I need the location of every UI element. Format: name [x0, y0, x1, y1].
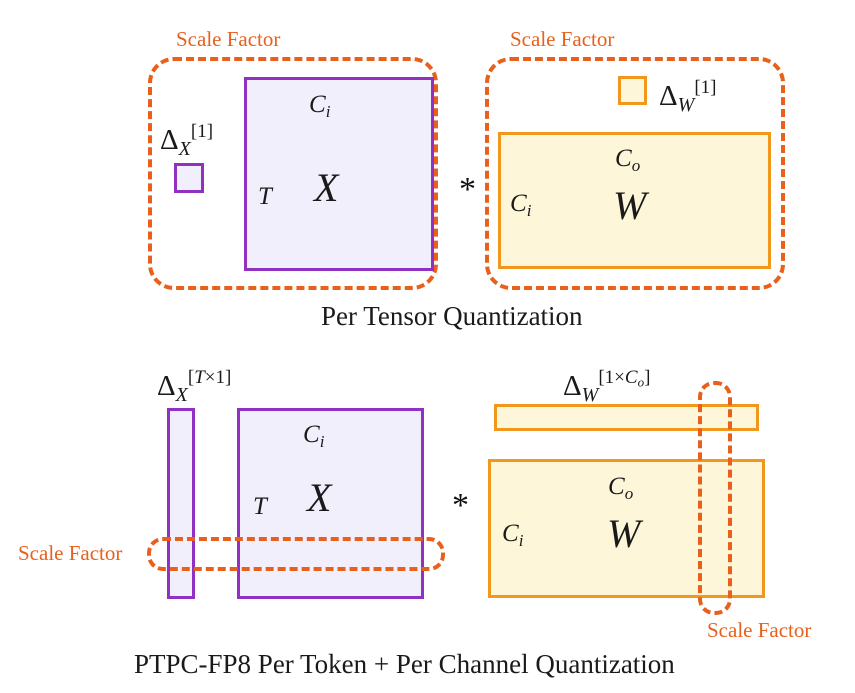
- top-left-scale-factor-label: Scale Factor: [176, 29, 280, 50]
- bottom-activation-scale-factor-outline: [147, 537, 445, 571]
- bottom-weight-cols-label: Co: [608, 474, 633, 502]
- bottom-row-caption: PTPC-FP8 Per Token + Per Channel Quantiz…: [134, 651, 675, 678]
- cols-symbol: C: [303, 421, 320, 448]
- bottom-right-scale-factor-label: Scale Factor: [707, 620, 811, 641]
- delta-superscript: [1]: [191, 121, 213, 142]
- bottom-weight-scale-factor-outline: [698, 381, 732, 615]
- delta-subscript: X: [176, 384, 188, 406]
- delta-glyph: Δ: [563, 370, 582, 402]
- cols-symbol: C: [608, 473, 625, 500]
- top-weight-scale-square: [618, 76, 647, 105]
- top-weight-matrix-name: W: [613, 186, 646, 226]
- delta-subscript: W: [678, 94, 695, 116]
- delta-superscript: [T×1]: [188, 367, 231, 388]
- cols-symbol: C: [309, 91, 326, 118]
- quantization-diagram: Scale Factor ΔX[1] Ci T X * Scale Factor…: [0, 0, 855, 693]
- bottom-weight-rows-label: Ci: [502, 521, 523, 549]
- top-activation-scale-square: [174, 163, 204, 193]
- rows-symbol: C: [502, 520, 519, 547]
- delta-subscript: X: [179, 138, 191, 160]
- rows-symbol: C: [510, 190, 527, 217]
- top-row-caption: Per Tensor Quantization: [321, 303, 583, 330]
- rows-subscript: i: [527, 201, 532, 220]
- bottom-activation-matrix-name: X: [307, 478, 331, 518]
- bottom-left-scale-factor-label: Scale Factor: [18, 543, 122, 564]
- delta-glyph: Δ: [157, 370, 176, 402]
- top-activation-delta-label: ΔX[1]: [160, 122, 213, 159]
- top-activation-cols-label: Ci: [309, 92, 330, 120]
- bottom-activation-cols-label: Ci: [303, 422, 324, 450]
- cols-subscript: o: [632, 156, 641, 175]
- sup-cols: 1: [216, 367, 226, 388]
- delta-superscript: [1×Co]: [598, 367, 650, 388]
- cols-subscript: i: [326, 102, 331, 121]
- cols-subscript: i: [320, 432, 325, 451]
- delta-superscript: [1]: [694, 77, 716, 98]
- sup-times: ×: [205, 367, 216, 388]
- sup-close: ]: [225, 367, 231, 388]
- sup-close: ]: [644, 367, 650, 388]
- top-right-scale-factor-label: Scale Factor: [510, 29, 614, 50]
- top-weight-cols-label: Co: [615, 146, 640, 174]
- top-activation-rows-label: T: [258, 184, 272, 209]
- top-weight-delta-label: ΔW[1]: [659, 78, 716, 115]
- delta-glyph: Δ: [659, 80, 678, 112]
- sup-rows: T: [194, 367, 205, 388]
- delta-subscript: W: [582, 384, 599, 406]
- bottom-weight-matrix-name: W: [607, 514, 640, 554]
- top-activation-matrix-name: X: [314, 168, 338, 208]
- rows-subscript: i: [519, 531, 524, 550]
- bottom-activation-delta-label: ΔX[T×1]: [157, 368, 231, 405]
- bottom-weight-delta-label: ΔW[1×Co]: [563, 368, 650, 405]
- top-weight-rows-label: Ci: [510, 191, 531, 219]
- bottom-activation-rows-label: T: [253, 494, 267, 519]
- cols-symbol: C: [615, 145, 632, 172]
- top-activation-matrix: [244, 77, 434, 271]
- delta-glyph: Δ: [160, 124, 179, 156]
- bottom-multiply-operator: *: [452, 489, 469, 523]
- sup-rows: 1: [605, 367, 615, 388]
- sup-times: ×: [614, 367, 625, 388]
- sup-cols: C: [625, 367, 638, 388]
- top-multiply-operator: *: [459, 173, 476, 207]
- cols-subscript: o: [625, 484, 634, 503]
